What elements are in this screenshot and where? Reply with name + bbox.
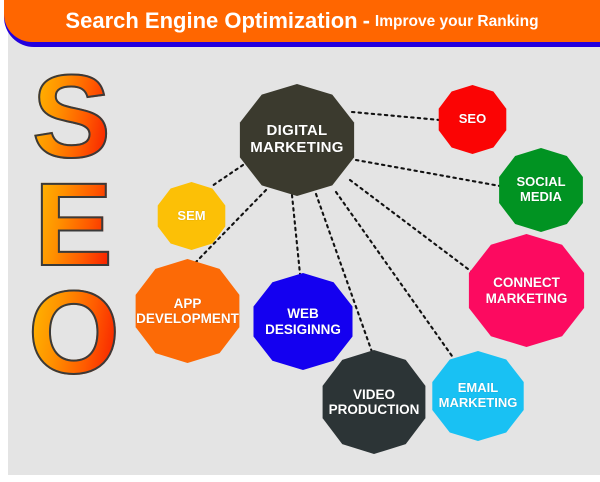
node-seo-label-line1: SEO bbox=[455, 112, 490, 127]
node-social-label-line1: SOCIAL bbox=[512, 175, 569, 190]
node-hub-label-line1: DIGITAL bbox=[246, 123, 348, 140]
node-email-label-line2: MARKETING bbox=[435, 396, 522, 411]
connector-hub-to-email bbox=[336, 192, 452, 356]
connector-hub-to-seo bbox=[352, 112, 440, 120]
node-web-label-line1: WEB bbox=[261, 306, 345, 321]
connector-hub-to-connect bbox=[350, 180, 472, 272]
connector-hub-to-social bbox=[356, 160, 500, 186]
infographic-canvas: Search Engine Optimization - Improve you… bbox=[0, 0, 600, 482]
node-app-label-line1: APP bbox=[132, 296, 243, 311]
connector-hub-to-web bbox=[292, 195, 300, 274]
node-email-label-line1: EMAIL bbox=[435, 381, 522, 396]
node-connect-label-line2: MARKETING bbox=[482, 291, 572, 306]
node-web-label-line2: DESIGINNG bbox=[261, 322, 345, 337]
node-video-label-line1: VIDEO bbox=[325, 387, 424, 402]
node-connect-label-line1: CONNECT bbox=[482, 275, 572, 290]
node-video-label-line2: PRODUCTION bbox=[325, 402, 424, 417]
node-social-label-line2: MEDIA bbox=[512, 190, 569, 205]
node-hub-label-line2: MARKETING bbox=[246, 140, 348, 157]
connector-hub-to-sem bbox=[212, 165, 243, 186]
node-sem-label-line1: SEM bbox=[173, 209, 209, 224]
node-app-label-line2: DEVELOPMENT bbox=[132, 311, 243, 326]
